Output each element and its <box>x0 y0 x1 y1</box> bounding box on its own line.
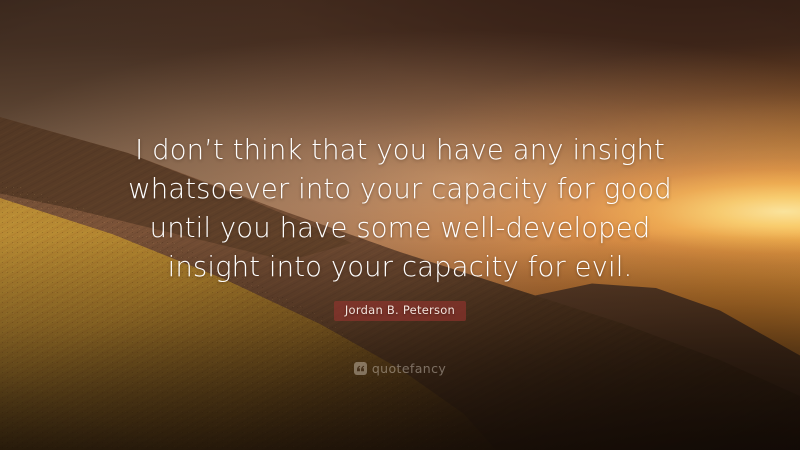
watermark-brand: quotefancy <box>372 362 446 375</box>
quote-mark-icon <box>354 362 367 375</box>
quote-text: I don’t think that you have any insight … <box>0 131 800 287</box>
card-content: I don’t think that you have any insight … <box>0 0 800 450</box>
author-badge: Jordan B. Peterson <box>334 301 466 321</box>
watermark: quotefancy <box>0 362 800 375</box>
attribution-row: Jordan B. Peterson <box>0 301 800 321</box>
quote-card: I don’t think that you have any insight … <box>0 0 800 450</box>
